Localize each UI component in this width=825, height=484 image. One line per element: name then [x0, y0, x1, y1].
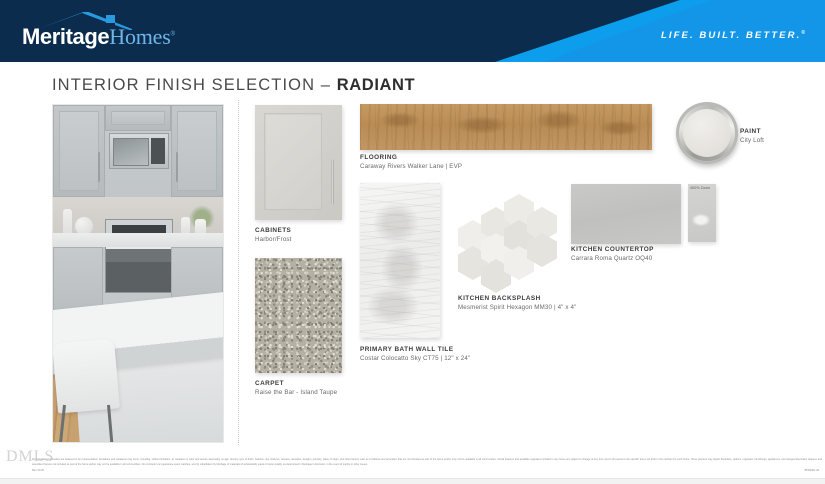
kitchen-backsplash-label: KITCHEN BACKSPLASH Mesmerist Spirit Hexa… — [458, 294, 576, 312]
footer-rule — [0, 478, 825, 484]
cabinet-pull-icon — [331, 159, 334, 205]
countertop-label-title: KITCHEN COUNTERTOP — [571, 245, 654, 254]
cabinet-door-panel — [264, 113, 322, 210]
kitchen-perimeter-counter — [53, 233, 223, 247]
paint-swatch-lid — [676, 102, 738, 164]
kitchen-countertop-label: KITCHEN COUNTERTOP Carrara Roma Quartz O… — [571, 245, 654, 263]
logo-word-meritage: Meritage — [22, 24, 109, 49]
microwave-appliance — [109, 133, 169, 169]
wood-grain-knot — [380, 112, 420, 128]
primary-bath-wall-tile-label: PRIMARY BATH WALL TILE Costar Colocatto … — [360, 345, 470, 363]
page-title-plan: RADIANT — [337, 76, 415, 94]
flooring-swatch — [360, 104, 652, 150]
meritage-homes-logo: MeritageHomes® — [22, 12, 202, 52]
flooring-label-detail: Caraway Rivers Walker Lane | EVP — [360, 162, 462, 171]
upper-cabinet-left — [53, 105, 105, 197]
carpet-label: CARPET Raise the Bar - Island Taupe — [255, 379, 337, 397]
countertop-zoom-label: 400% Zoom — [690, 186, 710, 190]
carpet-swatch — [255, 258, 342, 373]
kitchen-rendering-image — [52, 104, 224, 443]
cabinets-swatch — [255, 105, 342, 220]
cabinets-label: CABINETS Harbor/Frost — [255, 226, 292, 244]
flooring-label-title: FLOORING — [360, 153, 462, 162]
bath-tile-label-title: PRIMARY BATH WALL TILE — [360, 345, 470, 354]
quartz-vein — [692, 214, 710, 226]
paint-color-face — [683, 109, 731, 157]
carpet-label-detail: Raise the Bar - Island Taupe — [255, 388, 337, 397]
countertop-label-detail: Carrara Roma Quartz OQ40 — [571, 254, 654, 263]
upper-cabinet-center — [105, 105, 171, 131]
cabinet-handle-icon — [98, 152, 100, 182]
marble-vein — [374, 203, 418, 243]
kitchen-countertop-swatch — [571, 184, 681, 244]
wood-grain-knot — [536, 110, 582, 130]
bath-tile-label-detail: Costar Colocatto Sky CT75 | 12" x 24" — [360, 354, 470, 363]
header-tagline: LIFE. BUILT. BETTER.® — [661, 30, 805, 41]
wood-grain-knot — [456, 116, 508, 134]
page-title-prefix: INTERIOR FINISH SELECTION – — [52, 76, 337, 94]
cabinet-panel — [111, 111, 165, 125]
kitchen-backsplash-swatch — [458, 186, 556, 291]
wood-grain-knot — [600, 120, 640, 136]
microwave-control-panel — [151, 138, 165, 164]
cabinet-panel — [59, 111, 99, 191]
carpet-label-title: CARPET — [255, 379, 337, 388]
range-appliance — [105, 219, 173, 293]
tagline-registered-mark: ® — [801, 30, 805, 36]
upper-cabinet-right — [171, 105, 223, 197]
bar-stool — [52, 338, 120, 413]
logo-word-homes: Homes — [109, 24, 170, 49]
marble-vein — [382, 245, 422, 291]
tagline-text: LIFE. BUILT. BETTER. — [661, 30, 801, 41]
decor-vase-tall — [63, 209, 72, 235]
page-title: INTERIOR FINISH SELECTION – RADIANT — [52, 76, 415, 95]
microwave-door — [113, 138, 149, 166]
paint-label-title: PAINT — [740, 127, 764, 136]
footer-revision: Rev. 01/25 — [32, 469, 44, 472]
flooring-label: FLOORING Caraway Rivers Walker Lane | EV… — [360, 153, 462, 171]
legal-disclaimer: All materials and finishes are believed … — [32, 458, 822, 467]
cabinets-label-detail: Harbor/Frost — [255, 235, 292, 244]
backsplash-label-detail: Mesmerist Spirit Hexagon MM30 | 4" x 4" — [458, 303, 576, 312]
marble-vein — [368, 287, 418, 325]
paint-label: PAINT City Loft — [740, 127, 764, 145]
cabinet-handle-icon — [176, 152, 178, 182]
section-divider — [238, 100, 240, 445]
cabinets-label-title: CABINETS — [255, 226, 292, 235]
logo-wordmark: MeritageHomes® — [22, 26, 175, 48]
logo-registered-mark: ® — [171, 32, 175, 38]
site-header: MeritageHomes® LIFE. BUILT. BETTER.® — [0, 0, 825, 62]
paint-label-detail: City Loft — [740, 136, 764, 145]
countertop-zoom-inset — [688, 184, 716, 242]
cabinet-panel — [177, 111, 217, 191]
footer-document-code: BPD0001-06 — [805, 469, 819, 472]
primary-bath-wall-tile-swatch — [360, 183, 440, 338]
backsplash-label-title: KITCHEN BACKSPLASH — [458, 294, 576, 303]
